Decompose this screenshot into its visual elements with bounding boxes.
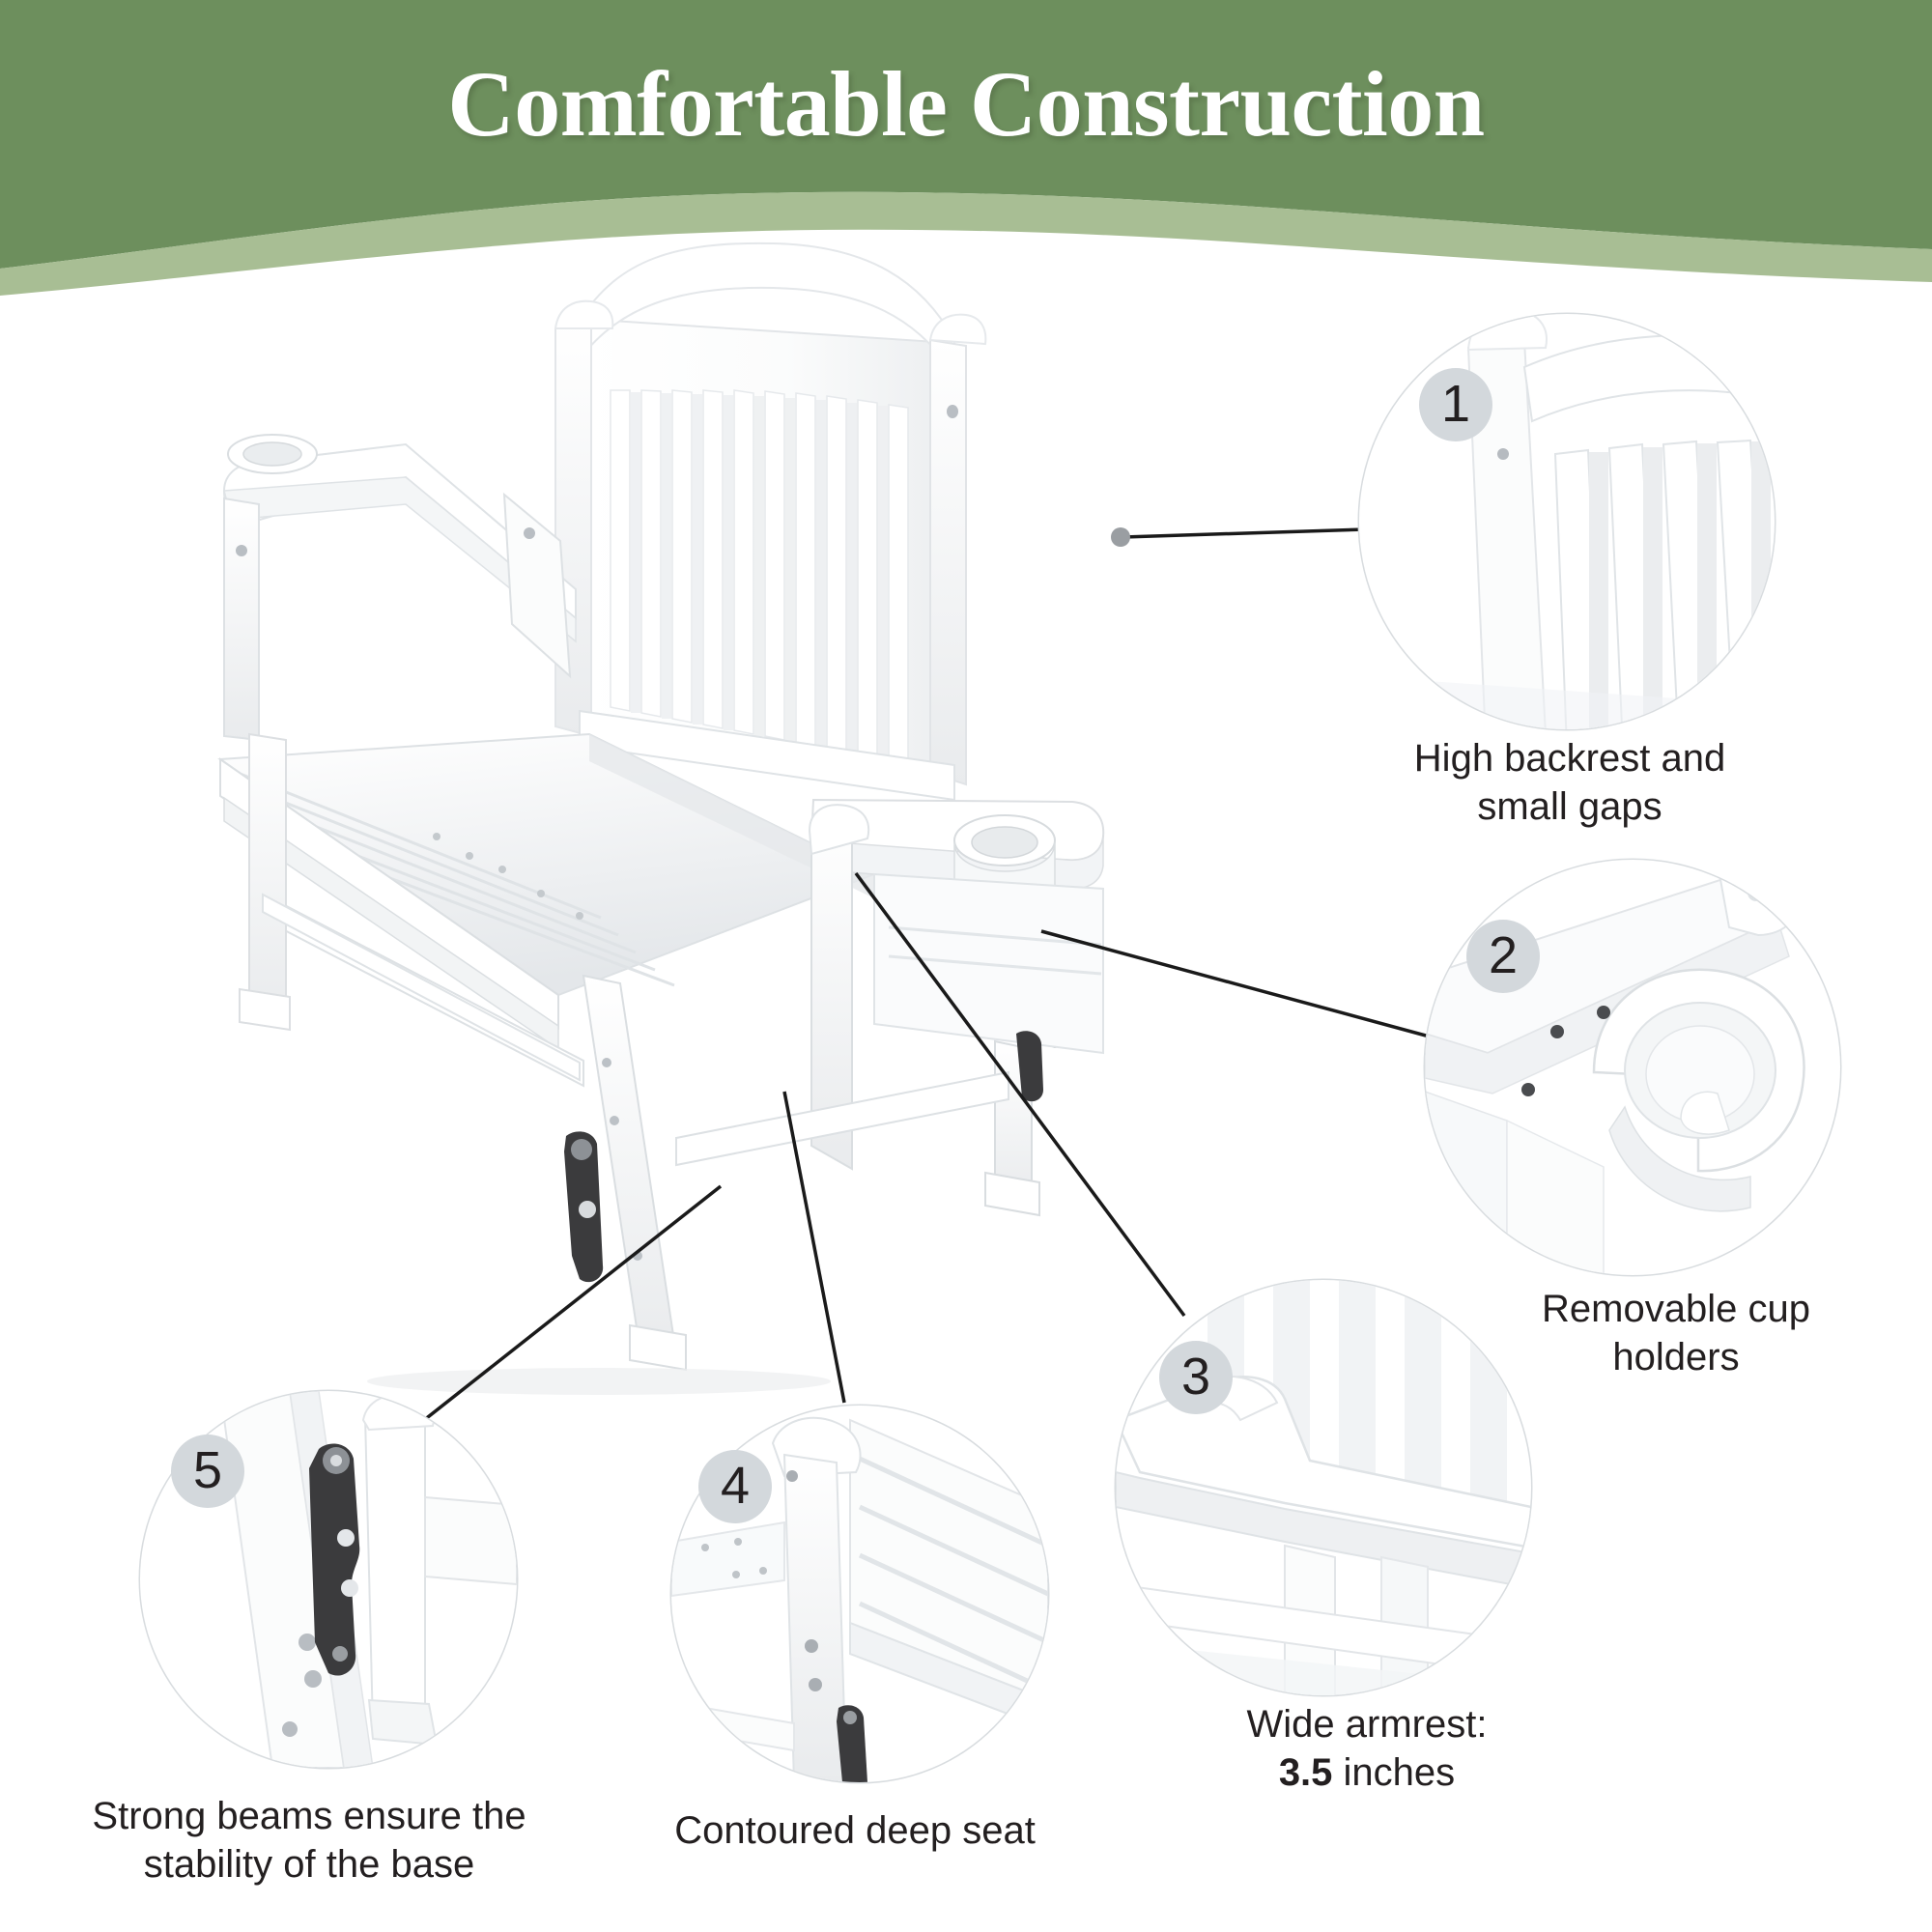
callout-caption-3-line-1: Wide armrest: [1150, 1700, 1584, 1748]
callout-caption-5: Strong beams ensure the stability of the… [58, 1792, 560, 1889]
anchor-dot-1 [1111, 527, 1130, 547]
callout-caption-4: Contoured deep seat [618, 1806, 1092, 1855]
callout-caption-1-line-1: High backrest and [1362, 734, 1777, 782]
detail1-screw [1497, 448, 1509, 460]
screw-armrest-left [236, 545, 247, 556]
callout-caption-2-line-2: holders [1449, 1333, 1903, 1381]
backrest-slat-gaps [631, 392, 888, 760]
detail-circle-1 [1359, 310, 1797, 748]
callout-caption-2: Removable cup holders [1449, 1285, 1903, 1381]
armrest-right-cupholder-hole [972, 827, 1037, 858]
bracket-bolt-mid [579, 1201, 596, 1218]
detail2-side-panel [1425, 1092, 1507, 1275]
callout-badge-3[interactable]: 3 [1159, 1341, 1233, 1414]
callout-caption-2-line-1: Removable cup [1449, 1285, 1903, 1333]
callout-badge-1[interactable]: 1 [1419, 368, 1492, 441]
infographic-stage [0, 0, 1932, 1932]
base-left-leg [249, 734, 286, 1016]
detail5-bracket-hole-1 [337, 1529, 355, 1547]
leader-line-1 [1123, 529, 1366, 537]
callout-caption-3-line-2: 3.5 inches [1150, 1748, 1584, 1797]
detail4-bracket-bolt [843, 1711, 857, 1724]
product-shadow [367, 1368, 831, 1395]
armrest-left-cupholder-hole [243, 442, 301, 466]
callout-caption-4-line-1: Contoured deep seat [618, 1806, 1092, 1855]
armrest-width-unit: inches [1332, 1751, 1455, 1794]
callout-badge-4[interactable]: 4 [698, 1450, 772, 1523]
callout-caption-5-line-1: Strong beams ensure the [58, 1792, 560, 1840]
callout-caption-3: Wide armrest: 3.5 inches [1150, 1700, 1584, 1797]
detail5-metal-bracket [309, 1444, 359, 1676]
detail5-bracket-hole-2 [341, 1579, 358, 1597]
detail5-bracket-bolt-bottom [332, 1646, 348, 1662]
screw-armrest-bracket [524, 527, 535, 539]
bracket-bolt-top [571, 1139, 592, 1160]
backrest-left-stile [555, 323, 591, 736]
armrest-left-front-leg [224, 498, 259, 740]
page-title: Comfortable Construction [0, 50, 1932, 157]
detail5-cross-rail [425, 1497, 517, 1584]
screw-backrest-right [947, 405, 958, 418]
base-center-foot [630, 1325, 686, 1370]
callout-badge-2[interactable]: 2 [1466, 920, 1540, 993]
base-left-foot [240, 989, 290, 1030]
leader-anchor-dots [1111, 527, 1130, 547]
detail2-knob-hole [1747, 884, 1765, 901]
armrest-width-value: 3.5 [1279, 1751, 1333, 1794]
detail5-vertical-post [365, 1416, 425, 1729]
detail5-post-foot [369, 1700, 437, 1745]
detail5-bracket-bolt-top-inner [330, 1455, 342, 1466]
backrest-left-stile-cap [555, 301, 612, 328]
callout-badge-5[interactable]: 5 [171, 1435, 244, 1508]
backrest-right-stile [930, 340, 966, 784]
product-bench-illustration [220, 243, 1103, 1395]
callout-caption-5-line-2: stability of the base [58, 1840, 560, 1889]
callout-caption-1-line-2: small gaps [1362, 782, 1777, 831]
callout-caption-1: High backrest and small gaps [1362, 734, 1777, 831]
